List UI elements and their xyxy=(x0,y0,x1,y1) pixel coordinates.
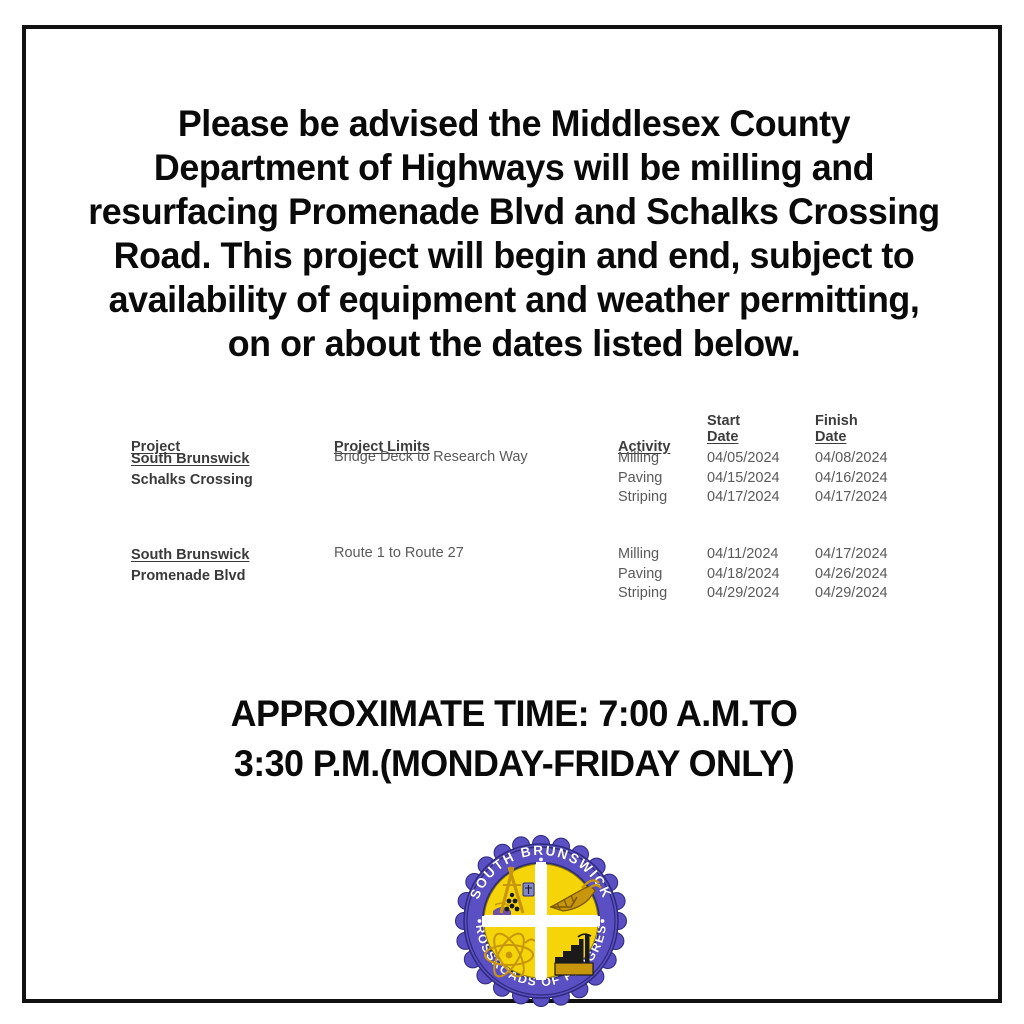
notice-frame-border: Please be advised the Middlesex County D… xyxy=(22,25,1002,1003)
project-name-line1: South Brunswick xyxy=(131,449,253,470)
column-header-finish-date-line1: Finish xyxy=(815,413,858,429)
start-date-value: 04/05/2024 xyxy=(707,449,780,469)
project-name-line1: South Brunswick xyxy=(131,545,249,566)
cell-activity-list: Milling Paving Striping xyxy=(618,449,667,508)
cell-project-limits: Bridge Deck to Research Way xyxy=(334,449,528,465)
column-header-finish-date-line2: Date xyxy=(815,429,858,445)
activity-label: Paving xyxy=(618,565,667,585)
cell-start-date-list: 04/11/2024 04/18/2024 04/29/2024 xyxy=(707,545,780,604)
table-row: South Brunswick Schalks Crossing Bridge … xyxy=(106,449,936,545)
activity-label: Milling xyxy=(618,545,667,565)
table-header-row: Project Project Limits Activity Start Da… xyxy=(106,387,936,449)
start-date-value: 04/18/2024 xyxy=(707,565,780,585)
activity-label: Paving xyxy=(618,469,667,489)
finish-date-value: 04/16/2024 xyxy=(815,469,888,489)
cell-finish-date-list: 04/17/2024 04/26/2024 04/29/2024 xyxy=(815,545,888,604)
finish-date-value: 04/08/2024 xyxy=(815,449,888,469)
south-brunswick-seal: SOUTH BRUNSWICK CROSSROADS OF PROGRESS xyxy=(451,831,631,1011)
cell-activity-list: Milling Paving Striping xyxy=(618,545,667,604)
finish-date-value: 04/17/2024 xyxy=(815,488,888,508)
start-date-value: 04/29/2024 xyxy=(707,584,780,604)
road-work-notice-page: Please be advised the Middlesex County D… xyxy=(0,0,1024,1024)
activity-label: Striping xyxy=(618,488,667,508)
finish-date-value: 04/17/2024 xyxy=(815,545,888,565)
table-row: South Brunswick Promenade Blvd Route 1 t… xyxy=(106,545,936,641)
start-date-value: 04/17/2024 xyxy=(707,488,780,508)
cell-finish-date-list: 04/08/2024 04/16/2024 04/17/2024 xyxy=(815,449,888,508)
cell-project-limits: Route 1 to Route 27 xyxy=(334,545,464,561)
column-header-start-date-line2: Date xyxy=(707,429,740,445)
approximate-time-line1: APPROXIMATE TIME: 7:00 A.M.TO xyxy=(78,689,951,739)
notice-headline: Please be advised the Middlesex County D… xyxy=(84,101,944,365)
activity-label: Striping xyxy=(618,584,667,604)
cell-project: South Brunswick Promenade Blvd xyxy=(131,545,249,587)
activity-label: Milling xyxy=(618,449,667,469)
column-header-start-date: Start Date xyxy=(707,413,740,445)
finish-date-value: 04/29/2024 xyxy=(815,584,888,604)
cell-start-date-list: 04/05/2024 04/15/2024 04/17/2024 xyxy=(707,449,780,508)
approximate-time-line2: 3:30 P.M.(MONDAY-FRIDAY ONLY) xyxy=(78,739,951,789)
approximate-time-block: APPROXIMATE TIME: 7:00 A.M.TO 3:30 P.M.(… xyxy=(78,689,951,789)
column-header-start-date-line1: Start xyxy=(707,413,740,429)
project-name-line2: Promenade Blvd xyxy=(131,566,249,587)
finish-date-value: 04/26/2024 xyxy=(815,565,888,585)
project-name-line2: Schalks Crossing xyxy=(131,470,253,491)
start-date-value: 04/11/2024 xyxy=(707,545,780,565)
column-header-finish-date: Finish Date xyxy=(815,413,858,445)
cell-project: South Brunswick Schalks Crossing xyxy=(131,449,253,491)
start-date-value: 04/15/2024 xyxy=(707,469,780,489)
project-schedule-table: Project Project Limits Activity Start Da… xyxy=(106,387,936,641)
